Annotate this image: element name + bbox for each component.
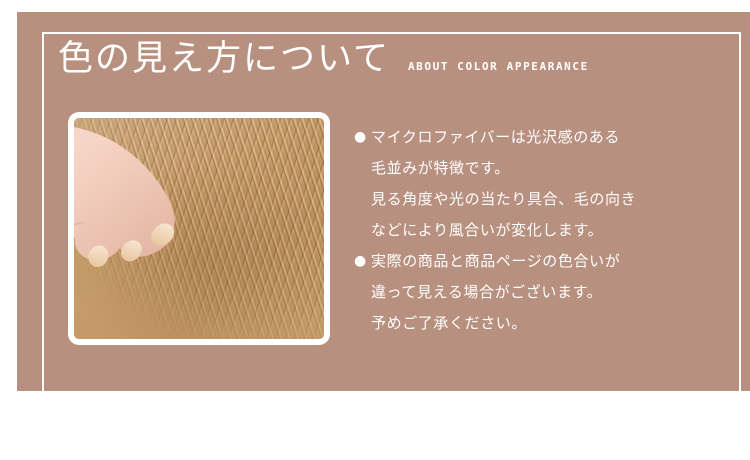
description-paragraph: ● 実際の商品と商品ページの色合いが 違って見える場合がございます。 予めご了承… [354,246,684,339]
description-copy: ● マイクロファイバーは光沢感のある 毛並みが特徴です。 見る角度や光の当たり具… [354,122,684,339]
product-photo-frame [68,112,330,345]
page-subtitle: About color appearance [408,61,589,77]
description-line: 毛並みが特徴です。 [354,153,684,184]
product-photo [74,118,324,339]
description-paragraph: ● マイクロファイバーは光沢感のある 毛並みが特徴です。 見る角度や光の当たり具… [354,122,684,246]
description-line: マイクロファイバーは光沢感のある [371,122,620,153]
description-line: 予めご了承ください。 [354,308,684,339]
bullet-line: ● マイクロファイバーは光沢感のある [354,122,684,153]
description-line: 違って見える場合がございます。 [354,277,684,308]
bullet-line: ● 実際の商品と商品ページの色合いが [354,246,684,277]
page-root: 色の見え方について About color appearance [0,0,750,460]
heading-group: 色の見え方について About color appearance [58,42,589,77]
bullet-marker: ● [354,122,371,153]
page-title: 色の見え方について [58,42,390,77]
description-line: 実際の商品と商品ページの色合いが [371,246,620,277]
description-line: 見る角度や光の当たり具合、毛の向き [354,184,684,215]
bullet-marker: ● [354,246,371,277]
hand-illustration [74,118,199,321]
description-line: などにより風合いが変化します。 [354,215,684,246]
